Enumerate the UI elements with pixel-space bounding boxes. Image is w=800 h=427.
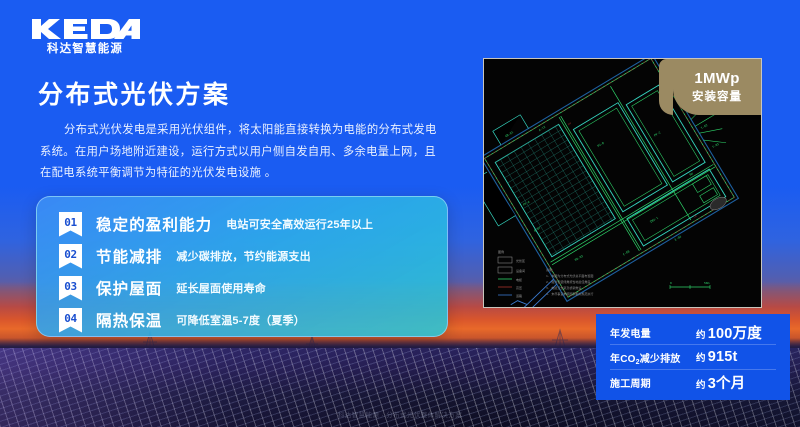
- capacity-label: 安装容量: [692, 88, 742, 104]
- feature-number: 04: [64, 312, 76, 325]
- features-card: 01 稳定的盈利能力 电站可安全高效运行25年以上 02 节能减排 减少碳排放，…: [36, 196, 448, 337]
- ribbon-number-icon: 02: [59, 244, 82, 269]
- svg-text:4. 未尽事宜参照国家相关规范执行: 4. 未尽事宜参照国家相关规范执行: [546, 291, 593, 296]
- ribbon-number-icon: 03: [59, 276, 82, 301]
- ribbon-number-icon: 01: [59, 212, 82, 237]
- feature-title: 稳定的盈利能力: [96, 213, 212, 235]
- keda-wordmark-icon: [30, 17, 140, 41]
- feature-title: 保护屋面: [96, 277, 162, 299]
- svg-text:电缆: 电缆: [516, 277, 522, 282]
- svg-text:高压: 高压: [516, 285, 522, 290]
- stats-panel: 年发电量 约100万度 年CO2减少排放 约915t 施工周期 约3个月: [596, 314, 790, 400]
- capacity-badge: 1MWp 安装容量: [673, 59, 761, 115]
- intro-paragraph: 分布式光伏发电是采用光伏组件，将太阳能直接转换为电能的分布式发电系统。在用户场地…: [40, 120, 440, 185]
- svg-text:50m: 50m: [704, 281, 710, 285]
- feature-desc: 延长屋面使用寿命: [176, 280, 266, 296]
- feature-number: 02: [64, 248, 76, 261]
- feature-title: 节能减排: [96, 245, 162, 267]
- ribbon-number-icon: 04: [59, 308, 82, 333]
- feature-title: 隔热保温: [96, 309, 162, 331]
- svg-text:0: 0: [670, 281, 672, 285]
- stat-label: 年发电量: [610, 325, 696, 340]
- cad-site-plan[interactable]: GB-01 A-12 PV-A PV-B PV-C INV-1 RD-02 SW…: [483, 58, 762, 308]
- svg-text:2. 组件安装倾角按当地最佳角度: 2. 组件安装倾角按当地最佳角度: [546, 279, 590, 284]
- stat-row: 年CO2减少排放 约915t: [610, 345, 776, 370]
- svg-text:1. 本图为分布式光伏总平面布置图: 1. 本图为分布式光伏总平面布置图: [546, 273, 593, 278]
- capacity-value: 1MWp: [694, 70, 739, 87]
- feature-desc: 可降低室温5-7度（夏季）: [176, 312, 305, 328]
- stat-number: 100万度: [708, 326, 762, 342]
- stat-approx: 约: [696, 380, 706, 391]
- svg-text:设备间: 设备间: [516, 268, 525, 273]
- feature-item[interactable]: 04 隔热保温 可降低室温5-7度（夏季）: [37, 304, 447, 336]
- page-title: 分布式光伏方案: [38, 75, 231, 111]
- brand-logo: 科达智慧能源: [30, 17, 140, 56]
- feature-item[interactable]: 01 稳定的盈利能力 电站可安全高效运行25年以上: [37, 208, 447, 240]
- stat-row: 年发电量 约100万度: [610, 320, 776, 345]
- svg-text:道路: 道路: [516, 293, 522, 298]
- stat-row: 施工周期 约3个月: [610, 370, 776, 395]
- svg-text:说明：: 说明：: [546, 267, 555, 272]
- svg-text:光伏区: 光伏区: [516, 258, 525, 263]
- feature-desc: 减少碳排放，节约能源支出: [176, 248, 310, 264]
- stat-value: 约3个月: [696, 372, 745, 393]
- footer-note: 科达智慧能源 · 分布式光伏整体解决方案: [0, 409, 800, 419]
- stat-value: 约100万度: [696, 322, 762, 343]
- stat-value: 约915t: [696, 349, 738, 365]
- feature-item[interactable]: 03 保护屋面 延长屋面使用寿命: [37, 272, 447, 304]
- svg-text:3. 电缆沿支架及桥架敷设: 3. 电缆沿支架及桥架敷设: [546, 285, 581, 290]
- stat-number: 3个月: [708, 376, 746, 392]
- feature-number: 03: [64, 280, 76, 293]
- feature-number: 01: [64, 216, 76, 229]
- stat-label: 年CO2减少排放: [610, 350, 696, 365]
- feature-desc: 电站可安全高效运行25年以上: [226, 216, 373, 232]
- brand-name-cn: 科达智慧能源: [30, 43, 140, 56]
- stat-approx: 约: [696, 353, 706, 364]
- stat-label: 施工周期: [610, 375, 696, 390]
- stat-approx: 约: [696, 330, 706, 341]
- slide-root: 科达智慧能源 分布式光伏方案 分布式光伏发电是采用光伏组件，将太阳能直接转换为电…: [0, 0, 800, 427]
- stat-number: 915t: [708, 349, 738, 365]
- svg-text:图例: 图例: [498, 249, 504, 254]
- feature-item[interactable]: 02 节能减排 减少碳排放，节约能源支出: [37, 240, 447, 272]
